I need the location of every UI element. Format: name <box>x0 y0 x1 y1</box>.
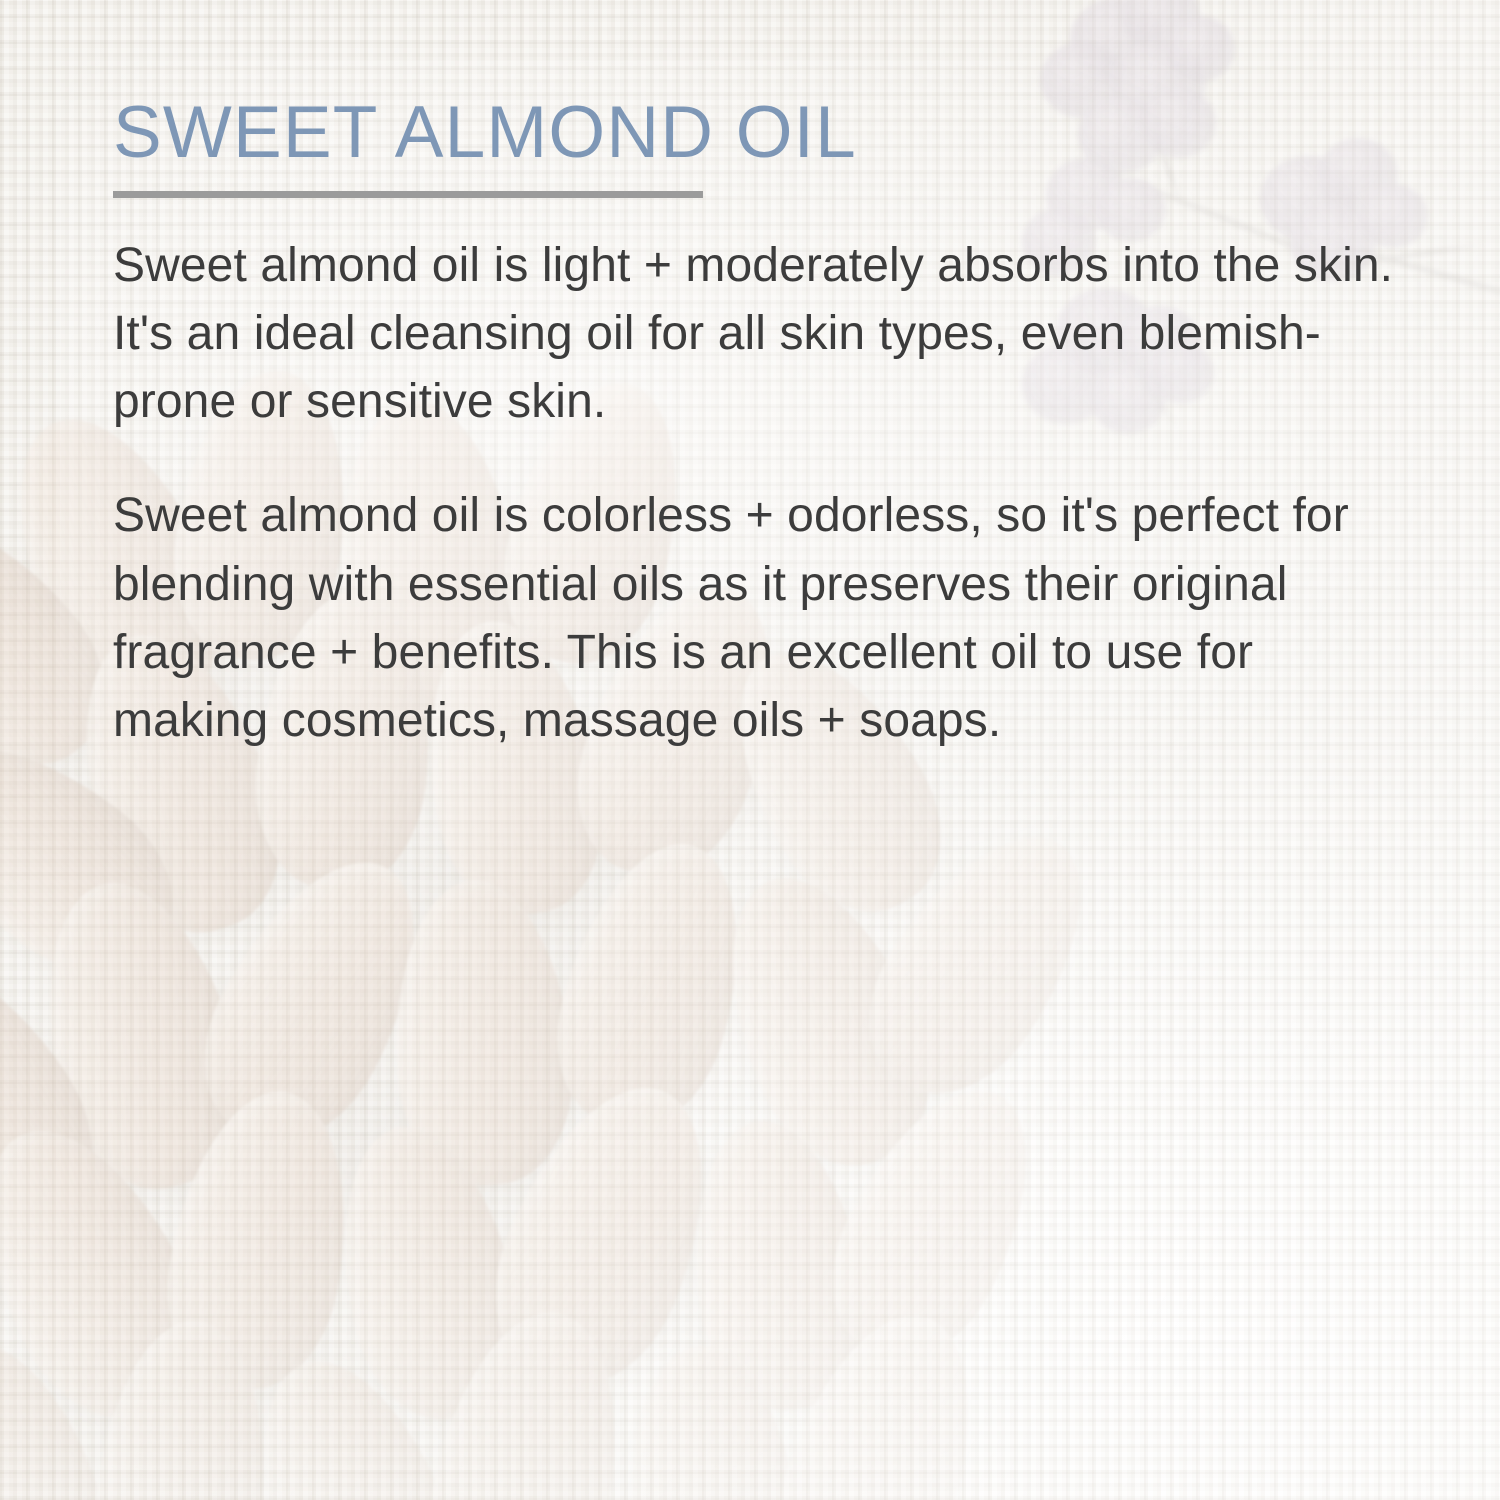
page-title: SWEET ALMOND OIL <box>113 96 1413 169</box>
product-info-card: SWEET ALMOND OIL Sweet almond oil is lig… <box>0 0 1500 1500</box>
title-underline-rule <box>113 191 703 198</box>
description-paragraph-1: Sweet almond oil is light + moderately a… <box>113 232 1403 436</box>
floret <box>1165 16 1235 82</box>
description-paragraph-2: Sweet almond oil is colorless + odorless… <box>113 482 1403 755</box>
content-block: SWEET ALMOND OIL Sweet almond oil is lig… <box>113 96 1413 755</box>
